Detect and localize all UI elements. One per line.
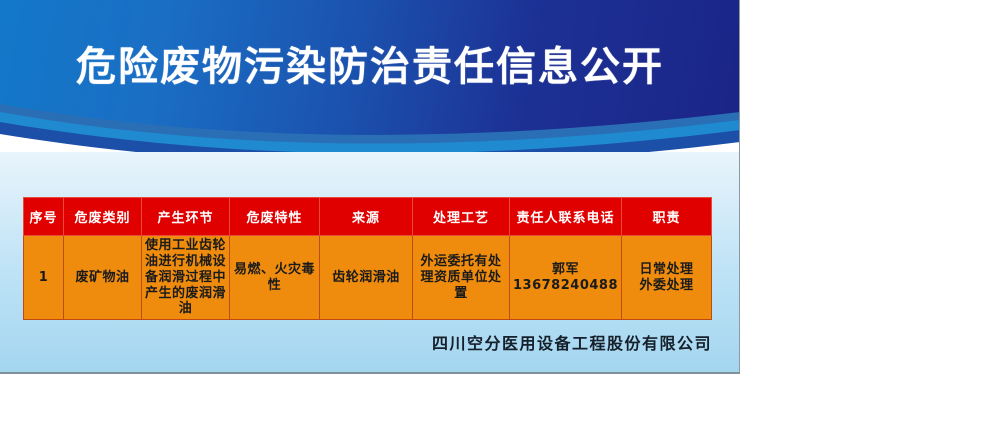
table-header-row: 序号 危废类别 产生环节 危废特性 来源 处理工艺 责任人联系电话 职责 <box>24 198 712 236</box>
column-header-category: 危废类别 <box>64 198 142 236</box>
cell-contact: 郭军 13678240488 <box>510 236 622 320</box>
column-header-stage: 产生环节 <box>142 198 230 236</box>
duty-line-2: 外委处理 <box>624 278 709 294</box>
column-header-process: 处理工艺 <box>413 198 510 236</box>
cell-stage: 使用工业齿轮油进行机械设备润滑过程中产生的废润滑油 <box>142 236 230 320</box>
cell-property: 易燃、火灾毒性 <box>230 236 320 320</box>
cell-category: 废矿物油 <box>64 236 142 320</box>
hazardous-waste-table: 序号 危废类别 产生环节 危废特性 来源 处理工艺 责任人联系电话 职责 1 废… <box>23 197 712 320</box>
column-header-property: 危废特性 <box>230 198 320 236</box>
column-header-index: 序号 <box>24 198 64 236</box>
column-header-source: 来源 <box>320 198 413 236</box>
page-title: 危险废物污染防治责任信息公开 <box>0 47 740 87</box>
information-disclosure-poster: 危险废物污染防治责任信息公开 序号 危废类别 产生环节 危废特性 来源 处理工艺… <box>0 0 740 374</box>
cell-process: 外运委托有处理资质单位处置 <box>413 236 510 320</box>
company-name: 四川空分医用设备工程股份有限公司 <box>0 330 712 354</box>
cell-source: 齿轮润滑油 <box>320 236 413 320</box>
table-row: 1 废矿物油 使用工业齿轮油进行机械设备润滑过程中产生的废润滑油 易燃、火灾毒性… <box>24 236 712 320</box>
contact-name: 郭军 <box>512 262 619 278</box>
cell-duty: 日常处理 外委处理 <box>622 236 712 320</box>
duty-line-1: 日常处理 <box>624 262 709 278</box>
column-header-contact: 责任人联系电话 <box>510 198 622 236</box>
hazardous-waste-table-wrap: 序号 危废类别 产生环节 危废特性 来源 处理工艺 责任人联系电话 职责 1 废… <box>23 197 711 320</box>
cell-index: 1 <box>24 236 64 320</box>
poster-header-banner: 危险废物污染防治责任信息公开 <box>0 0 740 152</box>
contact-phone: 13678240488 <box>512 278 619 294</box>
column-header-duty: 职责 <box>622 198 712 236</box>
